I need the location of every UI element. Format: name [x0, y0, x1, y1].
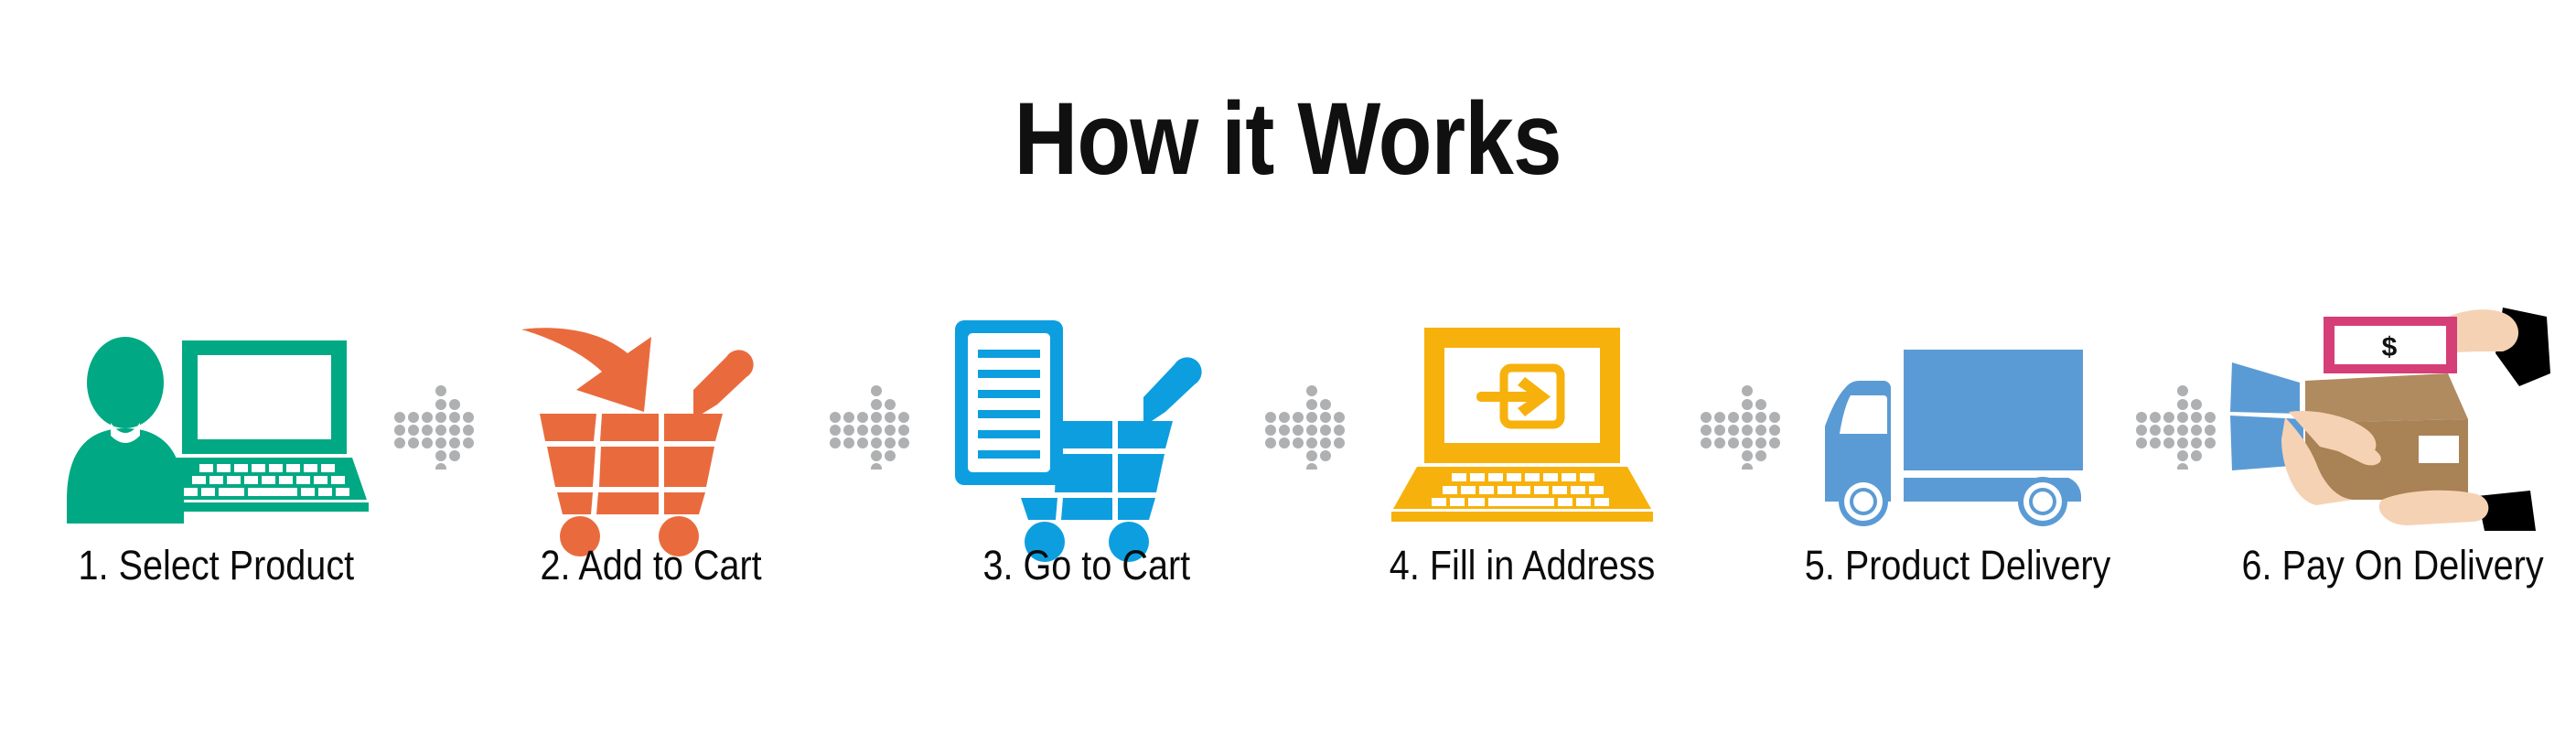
dotted-arrow-right-icon [388, 378, 479, 470]
person-laptop-icon [65, 320, 367, 531]
step-6-label: 6. Pay On Delivery [2242, 544, 2544, 587]
steps-row: 1. Select Product [51, 302, 2525, 604]
step-3-icon-box [922, 302, 1251, 531]
step-2-add-to-cart[interactable]: 2. Add to Cart [487, 302, 816, 604]
step-2-label: 2. Add to Cart [541, 544, 762, 587]
step-5-product-delivery[interactable]: 5. Product Delivery [1793, 302, 2122, 604]
infographic-canvas: How it Works [0, 0, 2576, 745]
step-4-icon-box [1358, 302, 1687, 531]
step-4-fill-in-address[interactable]: 4. Fill in Address [1358, 302, 1687, 604]
page-title-container: How it Works [0, 88, 2576, 190]
step-6-icon-box: $ [2228, 302, 2558, 531]
connector-4 [1687, 309, 1793, 538]
step-1-icon-box [51, 302, 381, 531]
box-shipping-label [2419, 436, 2459, 463]
dotted-arrow-right-icon [1259, 378, 1350, 470]
connector-5 [2122, 309, 2228, 538]
receiving-hand-bottom [2379, 491, 2536, 531]
step-1-select-product[interactable]: 1. Select Product [51, 302, 381, 604]
cart-arrow-icon [514, 311, 789, 531]
step-3-label: 3. Go to Cart [983, 544, 1191, 587]
dotted-arrow-right-icon [2130, 378, 2221, 470]
dotted-arrow-right-icon [823, 378, 915, 470]
document-cart-icon [950, 311, 1224, 531]
connector-2 [816, 309, 922, 538]
banknote-dollar-symbol: $ [2382, 332, 2398, 362]
dotted-arrow-right-icon [1694, 378, 1786, 470]
page-title: How it Works [1014, 88, 1562, 190]
banknote: $ [2324, 317, 2457, 373]
hands-box-cash-icon: $ [2228, 302, 2558, 531]
step-6-pay-on-delivery[interactable]: $ [2228, 302, 2558, 604]
step-5-icon-box [1793, 302, 2122, 531]
connector-3 [1251, 309, 1358, 538]
step-5-label: 5. Product Delivery [1805, 544, 2111, 587]
connector-1 [381, 309, 487, 538]
step-1-label: 1. Select Product [78, 544, 354, 587]
step-4-label: 4. Fill in Address [1390, 544, 1656, 587]
step-2-icon-box [487, 302, 816, 531]
laptop-login-icon [1380, 320, 1664, 531]
delivery-truck-icon [1807, 339, 2109, 531]
step-3-go-to-cart[interactable]: 3. Go to Cart [922, 302, 1251, 604]
